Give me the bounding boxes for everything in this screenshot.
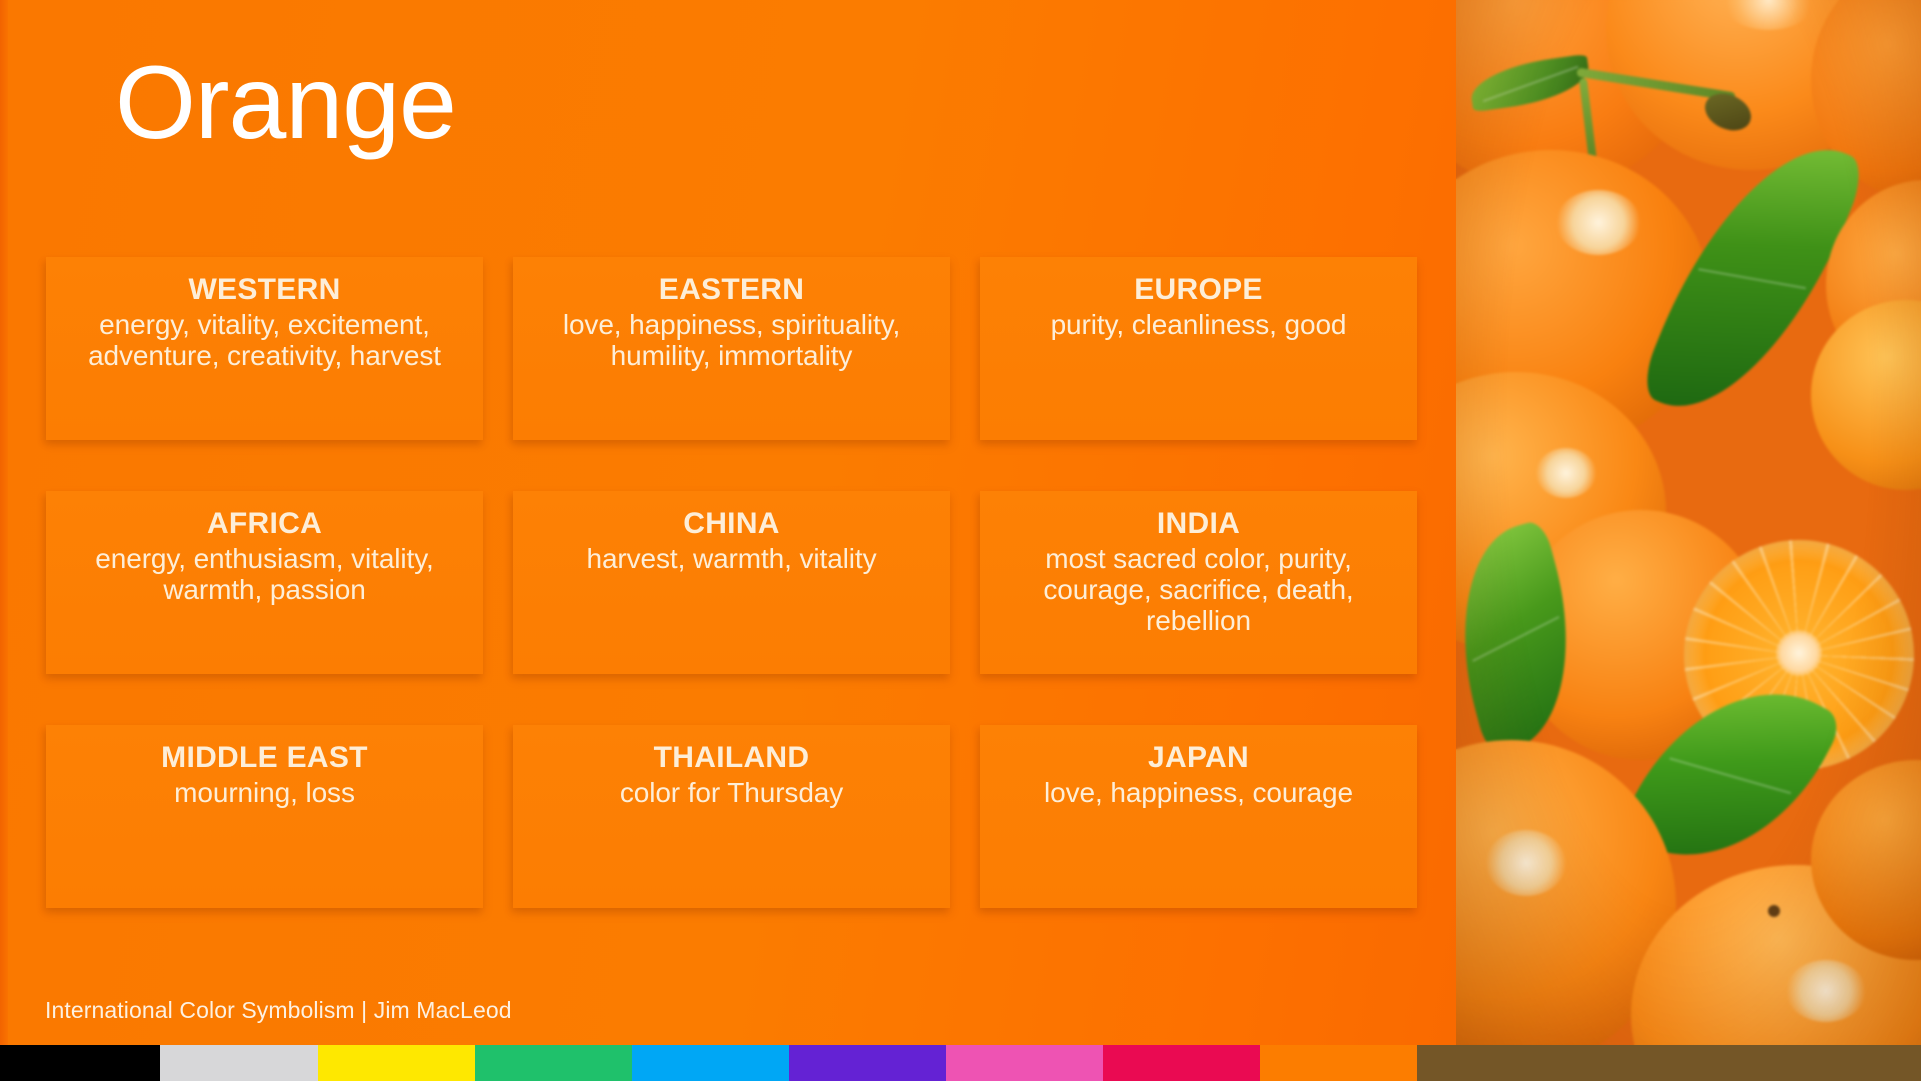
card-title: WESTERN bbox=[56, 271, 473, 309]
color-swatch-brown bbox=[1417, 1045, 1921, 1081]
card-western: WESTERN energy, vitality, excitement, ad… bbox=[46, 257, 483, 440]
card-china: CHINA harvest, warmth, vitality bbox=[513, 491, 950, 674]
card-description: love, happiness, courage bbox=[998, 778, 1399, 809]
card-description: love, happiness, spirituality, humility,… bbox=[531, 310, 932, 372]
slide-footer-credit: International Color Symbolism | Jim MacL… bbox=[45, 997, 512, 1024]
card-title: EASTERN bbox=[523, 271, 940, 309]
card-middle-east: MIDDLE EAST mourning, loss bbox=[46, 725, 483, 908]
color-swatch-crimson bbox=[1103, 1045, 1260, 1081]
card-description: purity, cleanliness, good bbox=[998, 310, 1399, 341]
oranges-photo bbox=[1456, 0, 1921, 1045]
color-swatch-cyan bbox=[632, 1045, 789, 1081]
card-title: JAPAN bbox=[990, 739, 1407, 777]
color-swatch-orange bbox=[1260, 1045, 1417, 1081]
card-title: AFRICA bbox=[56, 505, 473, 543]
card-thailand: THAILAND color for Thursday bbox=[513, 725, 950, 908]
card-india: INDIA most sacred color, purity, courage… bbox=[980, 491, 1417, 674]
color-swatch-green bbox=[475, 1045, 632, 1081]
card-title: CHINA bbox=[523, 505, 940, 543]
color-swatch-yellow bbox=[318, 1045, 475, 1081]
card-eastern: EASTERN love, happiness, spirituality, h… bbox=[513, 257, 950, 440]
card-description: color for Thursday bbox=[531, 778, 932, 809]
slide: Orange WESTERN energy, vitality, excitem… bbox=[0, 0, 1921, 1081]
symbolism-card-grid: WESTERN energy, vitality, excitement, ad… bbox=[46, 257, 1418, 907]
page-title: Orange bbox=[115, 46, 456, 160]
card-title: THAILAND bbox=[523, 739, 940, 777]
color-swatch-black bbox=[0, 1045, 160, 1081]
card-description: energy, vitality, excitement, adventure,… bbox=[64, 310, 465, 372]
card-description: mourning, loss bbox=[64, 778, 465, 809]
color-swatch-pink bbox=[946, 1045, 1103, 1081]
photo-vignette bbox=[1456, 0, 1921, 1045]
color-swatch-light-gray bbox=[160, 1045, 318, 1081]
color-swatch-purple bbox=[789, 1045, 946, 1081]
left-edge-accent bbox=[0, 0, 8, 1045]
card-title: MIDDLE EAST bbox=[56, 739, 473, 777]
card-japan: JAPAN love, happiness, courage bbox=[980, 725, 1417, 908]
card-europe: EUROPE purity, cleanliness, good bbox=[980, 257, 1417, 440]
card-description: energy, enthusiasm, vitality, warmth, pa… bbox=[64, 544, 465, 606]
card-title: EUROPE bbox=[990, 271, 1407, 309]
card-africa: AFRICA energy, enthusiasm, vitality, war… bbox=[46, 491, 483, 674]
color-swatch-bar bbox=[0, 1045, 1921, 1081]
card-description: most sacred color, purity, courage, sacr… bbox=[998, 544, 1399, 636]
card-title: INDIA bbox=[990, 505, 1407, 543]
card-description: harvest, warmth, vitality bbox=[531, 544, 932, 575]
